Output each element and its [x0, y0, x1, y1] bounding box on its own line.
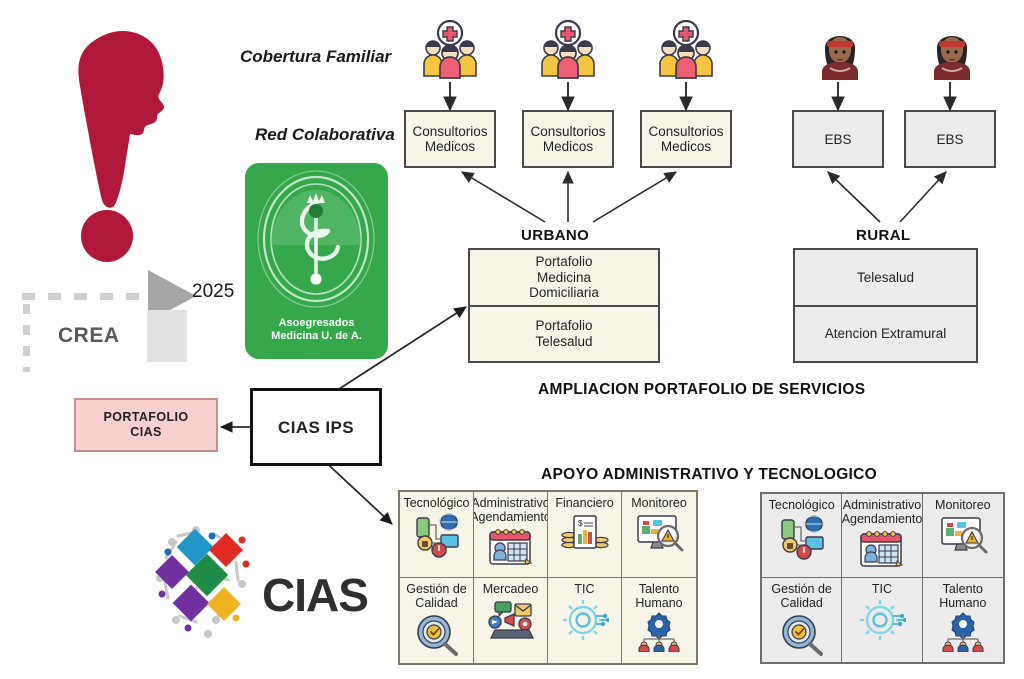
timeline-brand-label: CREA: [58, 324, 120, 348]
support-card-tic[interactable]: TIC: [842, 578, 922, 662]
urban-portfolio-item[interactable]: Portafolio Telesalud: [470, 305, 658, 362]
asoegresados-caption-line2: Medicina U. de A.: [271, 330, 362, 343]
node-label-line2: CIAS: [130, 425, 161, 440]
node-label-line2: Medicos: [543, 139, 593, 154]
diagram-canvas: CREA 2025 Cobertura Familiar Red Colabor…: [0, 0, 1024, 679]
support-card-tecnologico[interactable]: Tecnológico: [400, 492, 474, 578]
support-card-label: Financiero: [555, 496, 613, 510]
support-card-label: Monitoreo: [935, 498, 991, 512]
support-card-label: Gestión de Calidad: [771, 582, 831, 610]
quality-magnifier-icon: [412, 612, 462, 661]
support-card-label: Gestión de Calidad: [406, 582, 466, 610]
support-card-talento-humano[interactable]: Talento Humano: [622, 578, 696, 664]
support-card-label: Monitoreo: [631, 496, 687, 510]
urban-portfolio-stack: Portafolio Medicina Domiciliaria Portafo…: [468, 248, 660, 363]
devices-network-icon: [411, 512, 463, 563]
node-label-line2: Medicos: [425, 139, 475, 154]
finance-report-icon: $: [560, 512, 610, 559]
calendar-schedule-icon: [486, 526, 536, 573]
timeline-block: [147, 310, 187, 362]
support-card-tic[interactable]: TIC: [548, 578, 622, 664]
timeline-dashed-line-horizontal: [22, 293, 152, 300]
support-card-tecnologico[interactable]: Tecnológico: [762, 494, 842, 578]
timeline-year-label: 2025: [192, 281, 234, 303]
org-chart-gear-icon: [938, 612, 988, 657]
node-portafolio-cias[interactable]: PORTAFOLIO CIAS: [74, 398, 218, 452]
node-label-line1: Consultorios: [648, 124, 723, 139]
support-card-mercadeo[interactable]: Mercadeo: [474, 578, 548, 664]
support-card-monitoreo[interactable]: Monitoreo: [622, 492, 696, 578]
indigenous-person-icon: [924, 22, 980, 84]
node-label: EBS: [936, 132, 963, 147]
support-card-label: Talento Humano: [635, 582, 682, 610]
support-card-label: TIC: [574, 582, 594, 596]
monitor-magnifier-icon: [633, 512, 685, 559]
devices-network-icon: [776, 514, 828, 565]
support-card-administrativo-agendamiento[interactable]: Administrativo Agendamiento: [474, 492, 548, 578]
node-label: EBS: [824, 132, 851, 147]
support-card-label: Talento Humano: [939, 582, 986, 610]
marketing-laptop-icon: [485, 598, 537, 645]
support-card-monitoreo[interactable]: Monitoreo: [923, 494, 1003, 578]
calendar-schedule-icon: [857, 528, 907, 575]
urban-portfolio-item[interactable]: Portafolio Medicina Domiciliaria: [470, 250, 658, 305]
support-card-gestion-de-calidad[interactable]: Gestión de Calidad: [762, 578, 842, 662]
node-label-line1: PORTAFOLIO: [103, 410, 188, 425]
support-card-label: TIC: [872, 582, 892, 596]
support-card-label: Mercadeo: [483, 582, 539, 596]
support-card-label: Tecnológico: [403, 496, 469, 510]
asoegresados-logo: Asoegresados Medicina U. de A.: [245, 163, 388, 359]
svg-text:$: $: [578, 519, 583, 528]
node-consultorios-medicos[interactable]: Consultorios Medicos: [640, 110, 732, 168]
support-grid-left: Tecnológico Administrativo Agendamiento: [398, 490, 698, 665]
rural-portfolio-item[interactable]: Atencion Extramural: [795, 305, 976, 362]
rural-portfolio-stack: Telesalud Atencion Extramural: [793, 248, 978, 363]
support-card-administrativo-agendamiento[interactable]: Administrativo Agendamiento: [842, 494, 922, 578]
family-health-icon: [422, 20, 478, 82]
node-ebs[interactable]: EBS: [904, 110, 996, 168]
head-exclamation-logo: [44, 14, 194, 264]
support-card-label: Administrativo Agendamiento: [474, 496, 548, 524]
header-apoyo-administrativo: APOYO ADMINISTRATIVO Y TECNOLOGICO: [541, 466, 877, 484]
monitor-magnifier-icon: [937, 514, 989, 561]
indigenous-person-icon: [812, 22, 868, 84]
rural-portfolio-item[interactable]: Telesalud: [795, 250, 976, 305]
node-consultorios-medicos[interactable]: Consultorios Medicos: [404, 110, 496, 168]
label-cobertura-familiar: Cobertura Familiar: [240, 47, 391, 67]
cias-diamond-network-logo: [150, 518, 260, 648]
support-grid-right: Tecnológico Administrativo Agendamiento: [760, 492, 1005, 664]
header-ampliacion-portafolio: AMPLIACION PORTAFOLIO DE SERVICIOS: [538, 381, 865, 399]
family-health-icon: [540, 20, 596, 82]
node-cias-ips[interactable]: CIAS IPS: [250, 388, 382, 466]
gear-circuit-icon: [858, 598, 906, 647]
node-label-line2: Medicos: [661, 139, 711, 154]
gear-circuit-icon: [561, 598, 609, 647]
node-label-line1: Consultorios: [412, 124, 487, 139]
quality-magnifier-icon: [777, 612, 827, 661]
node-ebs[interactable]: EBS: [792, 110, 884, 168]
node-label-line1: Consultorios: [530, 124, 605, 139]
asoegresados-caption-line1: Asoegresados: [279, 317, 355, 330]
section-title-urbano: URBANO: [521, 227, 589, 244]
timeline-dashed-line-vertical: [23, 304, 30, 372]
cias-wordmark: CIAS: [262, 568, 368, 622]
node-consultorios-medicos[interactable]: Consultorios Medicos: [522, 110, 614, 168]
label-red-colaborativa: Red Colaborativa: [255, 125, 395, 145]
support-card-label: Tecnológico: [769, 498, 835, 512]
node-label: CIAS IPS: [278, 420, 354, 435]
org-chart-gear-icon: [634, 612, 684, 657]
family-health-icon: [658, 20, 714, 82]
support-card-gestion-de-calidad[interactable]: Gestión de Calidad: [400, 578, 474, 664]
support-card-talento-humano[interactable]: Talento Humano: [923, 578, 1003, 662]
support-card-label: Administrativo Agendamiento: [842, 498, 922, 526]
section-title-rural: RURAL: [856, 227, 911, 244]
support-card-financiero[interactable]: Financiero $: [548, 492, 622, 578]
